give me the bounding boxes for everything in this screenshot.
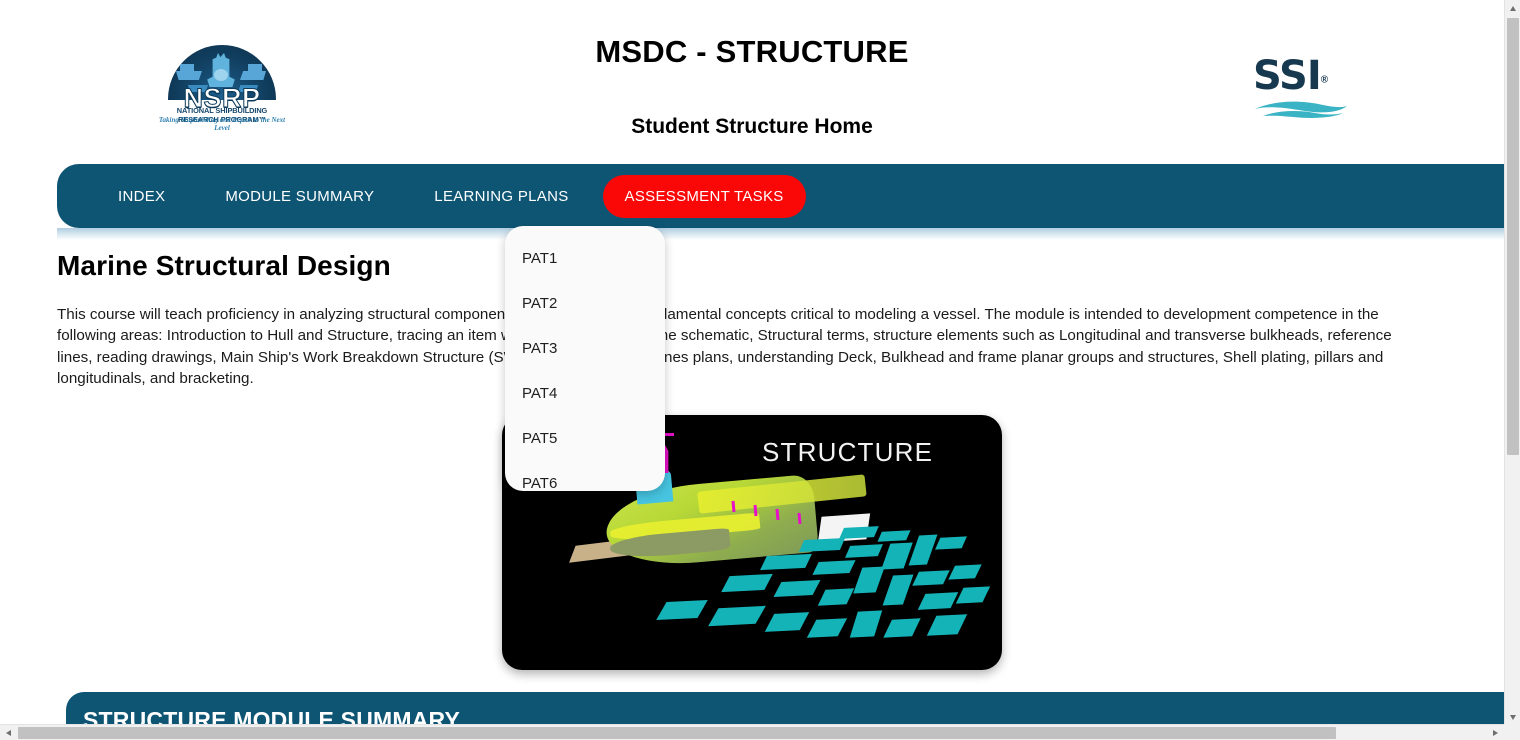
nav-item-index[interactable]: INDEX bbox=[100, 177, 183, 216]
plate-part bbox=[812, 560, 855, 575]
plate-part bbox=[935, 536, 967, 549]
nav-item-assessment-tasks[interactable]: ASSESSMENT TASKS bbox=[603, 175, 806, 218]
plate-part bbox=[883, 618, 920, 637]
plate-part bbox=[877, 530, 910, 541]
navbar-shadow bbox=[57, 228, 1504, 240]
ssi-logo: SSI® bbox=[1253, 56, 1351, 118]
ssi-wordmark: SSI bbox=[1253, 53, 1321, 99]
scrollbar-corner bbox=[1504, 724, 1520, 740]
plate-part bbox=[883, 574, 914, 605]
horizontal-scrollbar-thumb[interactable] bbox=[18, 727, 1336, 739]
course-description: This course will teach proficiency in an… bbox=[57, 304, 1414, 389]
plate-part bbox=[721, 574, 773, 592]
nsrp-logo: NSRP NATIONAL SHIPBUILDING RESEARCH PROG… bbox=[158, 45, 286, 127]
scroll-left-arrow-icon[interactable] bbox=[0, 725, 17, 740]
nsrp-ship-right-top-icon bbox=[248, 64, 262, 71]
plate-part bbox=[912, 570, 949, 586]
content-heading: Marine Structural Design bbox=[57, 250, 1504, 282]
dropdown-item-pat5[interactable]: PAT5 bbox=[505, 416, 665, 461]
plate-part bbox=[948, 564, 981, 579]
vertical-scrollbar-thumb[interactable] bbox=[1507, 18, 1519, 455]
structure-module-summary-banner: STRUCTURE MODULE SUMMARY bbox=[66, 692, 1504, 726]
plate-part bbox=[760, 554, 812, 570]
plate-part bbox=[850, 610, 883, 637]
main-content: Marine Structural Design This course wil… bbox=[0, 240, 1504, 389]
nsrp-ship-right-icon bbox=[240, 71, 266, 80]
plate-part bbox=[881, 542, 913, 569]
plate-part bbox=[708, 606, 766, 626]
dropdown-item-pat2[interactable]: PAT2 bbox=[505, 281, 665, 326]
plate-part bbox=[956, 586, 990, 603]
dropdown-item-pat3[interactable]: PAT3 bbox=[505, 326, 665, 371]
nsrp-center-dot-icon bbox=[214, 69, 228, 81]
plate-part bbox=[853, 566, 885, 593]
dropdown-item-pat4[interactable]: PAT4 bbox=[505, 371, 665, 416]
nsrp-ship-left-icon bbox=[176, 71, 202, 80]
assessment-tasks-dropdown: PAT1 PAT2 PAT3 PAT4 PAT5 PAT6 bbox=[505, 226, 665, 491]
plate-part bbox=[845, 544, 883, 558]
page-header: NSRP NATIONAL SHIPBUILDING RESEARCH PROG… bbox=[0, 0, 1504, 160]
ssi-wave-icon bbox=[1253, 98, 1349, 118]
plate-part bbox=[807, 618, 847, 638]
plate-part bbox=[927, 614, 967, 636]
plate-part bbox=[656, 600, 708, 620]
main-navigation: INDEX MODULE SUMMARY LEARNING PLANS ASSE… bbox=[57, 164, 1504, 228]
plate-part bbox=[918, 592, 959, 610]
vertical-scrollbar[interactable] bbox=[1504, 0, 1520, 726]
plate-part bbox=[818, 588, 854, 605]
browser-page: NSRP NATIONAL SHIPBUILDING RESEARCH PROG… bbox=[0, 0, 1520, 740]
nsrp-ship-left-top-icon bbox=[180, 64, 194, 71]
registered-trademark-icon: ® bbox=[1321, 75, 1328, 86]
nav-item-module-summary[interactable]: MODULE SUMMARY bbox=[207, 177, 392, 216]
nav-item-learning-plans[interactable]: LEARNING PLANS bbox=[416, 177, 586, 216]
scroll-up-arrow-icon[interactable] bbox=[1505, 0, 1520, 17]
ssi-wordmark-row: SSI® bbox=[1253, 56, 1351, 96]
hero-image-label: STRUCTURE bbox=[762, 437, 933, 468]
scroll-right-arrow-icon[interactable] bbox=[1487, 725, 1504, 740]
page-viewport: NSRP NATIONAL SHIPBUILDING RESEARCH PROG… bbox=[0, 0, 1504, 726]
horizontal-scrollbar[interactable] bbox=[0, 724, 1520, 740]
plate-part bbox=[909, 535, 938, 566]
nsrp-tagline: Taking Shipbuilding and Repair to the Ne… bbox=[158, 116, 286, 132]
plate-part bbox=[774, 580, 821, 597]
dropdown-item-pat1[interactable]: PAT1 bbox=[505, 236, 665, 281]
dropdown-item-pat6[interactable]: PAT6 bbox=[505, 461, 665, 506]
plate-part bbox=[799, 538, 845, 552]
plate-part bbox=[765, 612, 809, 632]
